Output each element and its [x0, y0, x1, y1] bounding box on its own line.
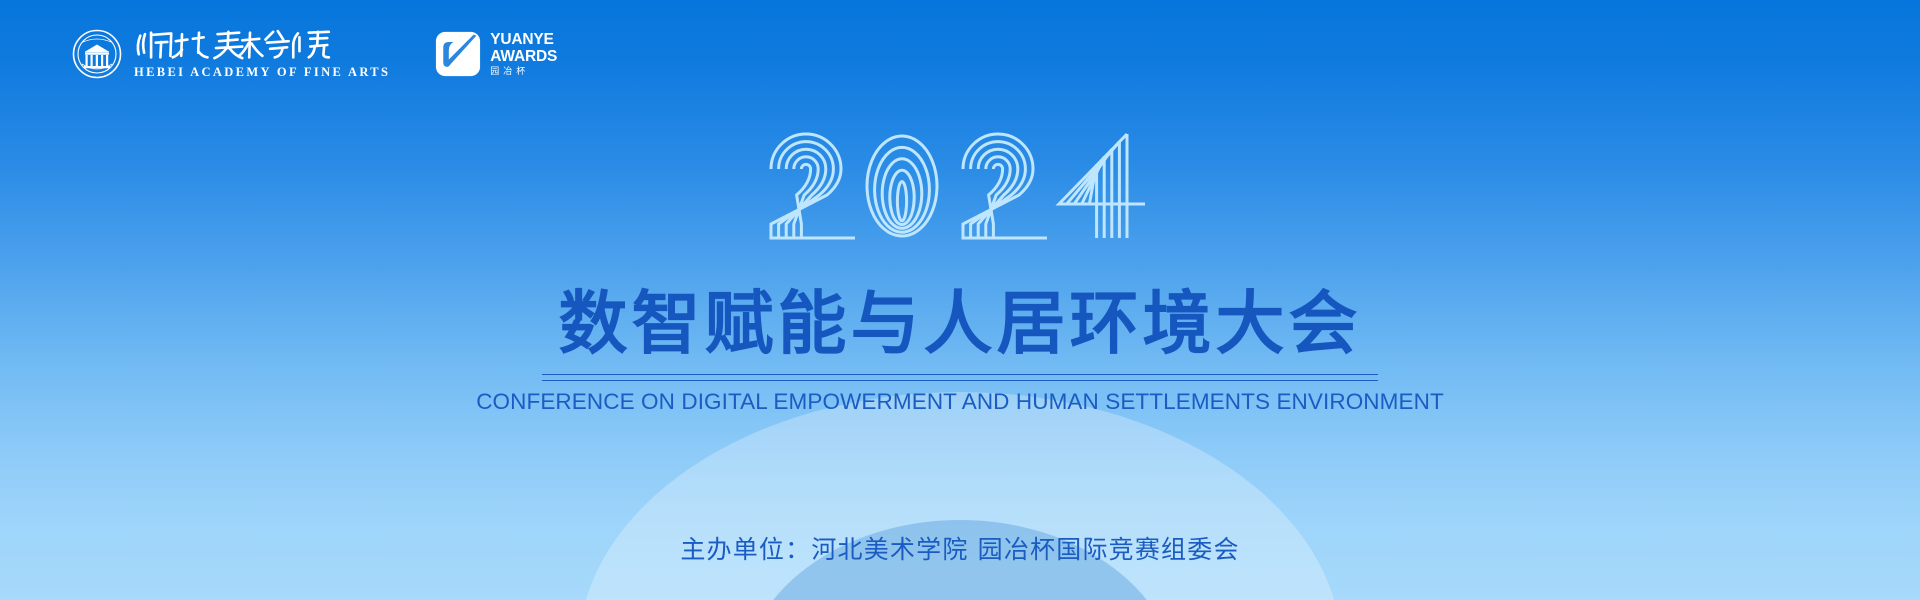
year-digit-2: [963, 134, 1047, 238]
logo-bar: HEBEI ACADEMY OF FINE ARTS YUANYE AWARDS…: [72, 26, 557, 82]
year-2024-svg: [761, 128, 1159, 246]
year-digit-2: [771, 134, 855, 238]
hebei-academy-wordmark: HEBEI ACADEMY OF FINE ARTS: [134, 28, 390, 80]
conference-title-cn: 数智赋能与人居环境大会: [0, 286, 1920, 363]
year-digit-0: [867, 136, 937, 236]
yuanye-name-cn: 园冶杯: [490, 67, 557, 76]
conference-title-en: CONFERENCE ON DIGITAL EMPOWERMENT AND HU…: [0, 389, 1920, 415]
year-digit-4: [1059, 134, 1145, 238]
title-block: 数智赋能与人居环境大会 CONFERENCE ON DIGITAL EMPOWE…: [0, 286, 1920, 415]
yuanye-line1: YUANYE: [490, 32, 557, 48]
title-divider-rule: [542, 374, 1378, 381]
organizer-line: 主办单位：河北美术学院 园冶杯国际竞赛组委会: [0, 530, 1920, 566]
hebei-academy-name-en: HEBEI ACADEMY OF FINE ARTS: [134, 65, 390, 80]
background-arc-outer: [578, 392, 1342, 600]
year-graphic: [0, 128, 1920, 246]
university-seal-icon: [72, 29, 122, 79]
hebei-academy-name-cn: [134, 28, 390, 62]
conference-banner: HEBEI ACADEMY OF FINE ARTS YUANYE AWARDS…: [0, 0, 1920, 600]
hebei-academy-logo: HEBEI ACADEMY OF FINE ARTS: [72, 26, 390, 82]
yuanye-wordmark: YUANYE AWARDS 园冶杯: [490, 32, 557, 76]
yuanye-mark-icon: [435, 31, 481, 77]
yuanye-line2: AWARDS: [490, 49, 557, 65]
yuanye-awards-logo: YUANYE AWARDS 园冶杯: [435, 28, 557, 80]
